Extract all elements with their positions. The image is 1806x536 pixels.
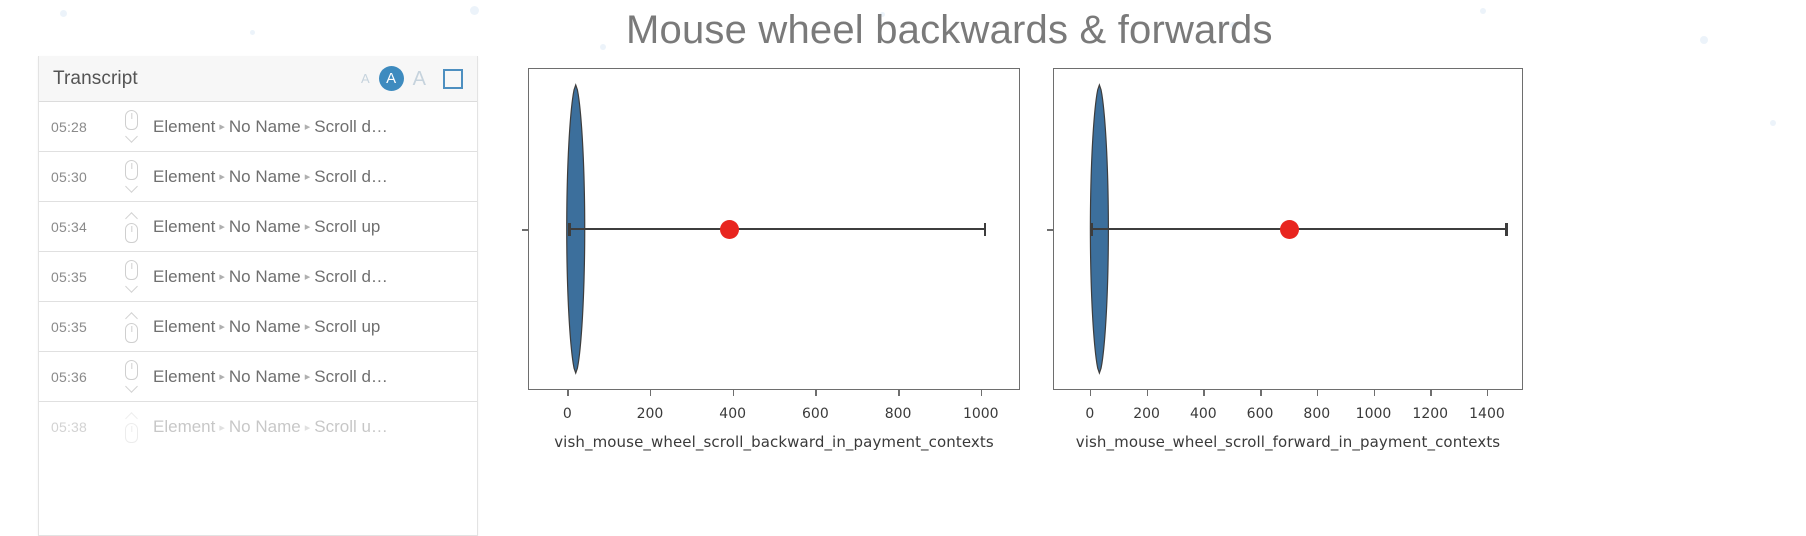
transcript-header: Transcript A A A xyxy=(39,56,477,102)
whisker-line xyxy=(568,228,984,231)
transcript-row-segment: Scroll u… xyxy=(314,417,388,437)
transcript-row-time: 05:36 xyxy=(51,369,109,385)
x-axis-tick xyxy=(567,390,569,396)
transcript-row-segment: Element xyxy=(153,367,215,387)
x-axis-tick xyxy=(815,390,817,396)
breadcrumb-separator-icon: ▸ xyxy=(219,370,225,383)
transcript-row[interactable]: 05:35Element▸No Name▸Scroll up xyxy=(39,302,477,352)
font-size-large-button[interactable]: A xyxy=(413,69,426,89)
transcript-row-segment: Scroll d… xyxy=(314,167,388,187)
breadcrumb-separator-icon: ▸ xyxy=(219,220,225,233)
transcript-row-segment: Scroll up xyxy=(314,317,380,337)
x-axis-label-forward: vish_mouse_wheel_scroll_forward_in_payme… xyxy=(1053,433,1523,451)
transcript-row-time: 05:30 xyxy=(51,169,109,185)
transcript-row-text: Element▸No Name▸Scroll up xyxy=(153,317,380,337)
breadcrumb-separator-icon: ▸ xyxy=(305,421,311,434)
transcript-row-segment: Scroll up xyxy=(314,217,380,237)
x-axis-tick-label: 800 xyxy=(1303,406,1330,422)
transcript-row-segment: No Name xyxy=(229,167,301,187)
x-axis-tick xyxy=(1430,390,1432,396)
x-axis-tick xyxy=(1317,390,1319,396)
transcript-row-text: Element▸No Name▸Scroll u… xyxy=(153,417,388,437)
transcript-row-segment: Element xyxy=(153,217,215,237)
x-axis-tick xyxy=(898,390,900,396)
plot-area-forward xyxy=(1053,68,1523,390)
x-axis-tick-label: 400 xyxy=(719,406,746,422)
x-axis-tick xyxy=(1260,390,1262,396)
x-axis-tick-label: 600 xyxy=(1247,406,1274,422)
transcript-row-text: Element▸No Name▸Scroll up xyxy=(153,217,380,237)
x-axis-ticks-forward xyxy=(1053,390,1523,406)
transcript-row-segment: Scroll d… xyxy=(314,117,388,137)
transcript-row-time: 05:38 xyxy=(51,419,109,435)
transcript-row-text: Element▸No Name▸Scroll d… xyxy=(153,367,388,387)
transcript-row-segment: No Name xyxy=(229,417,301,437)
transcript-panel: Transcript A A A 05:28Element▸No Name▸Sc… xyxy=(38,56,478,536)
transcript-row[interactable]: 05:30Element▸No Name▸Scroll d… xyxy=(39,152,477,202)
x-axis-ticklabels-forward: 0200400600800100012001400 xyxy=(1053,406,1523,428)
x-axis-tick xyxy=(1147,390,1149,396)
x-axis-tick xyxy=(1487,390,1489,396)
transcript-row-icon xyxy=(109,210,153,244)
mouse-scroll-down-icon xyxy=(122,110,140,144)
transcript-row-text: Element▸No Name▸Scroll d… xyxy=(153,117,388,137)
transcript-row-segment: Element xyxy=(153,417,215,437)
transcript-row-time: 05:35 xyxy=(51,319,109,335)
transcript-row-segment: No Name xyxy=(229,367,301,387)
transcript-row-icon xyxy=(109,260,153,294)
chart-forward: 0200400600800100012001400 vish_mouse_whe… xyxy=(1053,68,1523,451)
x-axis-tick xyxy=(1203,390,1205,396)
x-axis-tick xyxy=(1090,390,1092,396)
breadcrumb-separator-icon: ▸ xyxy=(305,120,311,133)
y-axis-tick xyxy=(1047,229,1054,231)
whisker-cap-max xyxy=(984,223,987,236)
breadcrumb-separator-icon: ▸ xyxy=(305,220,311,233)
breadcrumb-separator-icon: ▸ xyxy=(219,320,225,333)
transcript-row[interactable]: 05:36Element▸No Name▸Scroll d… xyxy=(39,352,477,402)
x-axis-tick-label: 1200 xyxy=(1412,406,1448,422)
x-axis-tick xyxy=(733,390,735,396)
transcript-row-icon xyxy=(109,410,153,444)
breadcrumb-separator-icon: ▸ xyxy=(305,370,311,383)
transcript-row[interactable]: 05:38Element▸No Name▸Scroll u… xyxy=(39,402,477,452)
transcript-row-icon xyxy=(109,310,153,344)
x-axis-tick-label: 0 xyxy=(563,406,572,422)
transcript-row[interactable]: 05:35Element▸No Name▸Scroll d… xyxy=(39,252,477,302)
mouse-scroll-up-icon xyxy=(122,210,140,244)
x-axis-tick-label: 200 xyxy=(637,406,664,422)
transcript-row-segment: Scroll d… xyxy=(314,267,388,287)
x-axis-tick-label: 0 xyxy=(1085,406,1094,422)
x-axis-tick xyxy=(981,390,983,396)
y-axis-tick xyxy=(522,229,529,231)
font-size-medium-button[interactable]: A xyxy=(379,66,404,91)
transcript-row[interactable]: 05:34Element▸No Name▸Scroll up xyxy=(39,202,477,252)
transcript-row-time: 05:28 xyxy=(51,119,109,135)
transcript-row-segment: No Name xyxy=(229,117,301,137)
transcript-header-tools: A A A xyxy=(361,66,463,91)
breadcrumb-separator-icon: ▸ xyxy=(305,170,311,183)
x-axis-tick-label: 200 xyxy=(1133,406,1160,422)
breadcrumb-separator-icon: ▸ xyxy=(219,170,225,183)
x-axis-tick-label: 400 xyxy=(1190,406,1217,422)
breadcrumb-separator-icon: ▸ xyxy=(305,320,311,333)
transcript-row-text: Element▸No Name▸Scroll d… xyxy=(153,267,388,287)
mouse-scroll-up-icon xyxy=(122,310,140,344)
mouse-scroll-up-icon xyxy=(122,410,140,444)
fullscreen-expand-icon[interactable] xyxy=(443,69,463,89)
x-axis-tick-label: 1000 xyxy=(1356,406,1392,422)
x-axis-ticks-backward xyxy=(528,390,1020,406)
mouse-scroll-down-icon xyxy=(122,160,140,194)
x-axis-tick-label: 600 xyxy=(802,406,829,422)
mouse-scroll-down-icon xyxy=(122,360,140,394)
x-axis-label-backward: vish_mouse_wheel_scroll_backward_in_paym… xyxy=(528,433,1020,451)
transcript-row-segment: Element xyxy=(153,167,215,187)
breadcrumb-separator-icon: ▸ xyxy=(219,270,225,283)
transcript-row-segment: Element xyxy=(153,317,215,337)
whisker-cap-min xyxy=(568,223,571,236)
mean-marker-dot xyxy=(720,220,739,239)
transcript-row-segment: Element xyxy=(153,117,215,137)
transcript-row-segment: Scroll d… xyxy=(314,367,388,387)
transcript-rows: 05:28Element▸No Name▸Scroll d…05:30Eleme… xyxy=(39,102,477,452)
x-axis-tick-label: 800 xyxy=(885,406,912,422)
transcript-title: Transcript xyxy=(53,68,361,90)
chart-backward: 02004006008001000 vish_mouse_wheel_scrol… xyxy=(528,68,1020,451)
transcript-row-segment: No Name xyxy=(229,267,301,287)
transcript-row-text: Element▸No Name▸Scroll d… xyxy=(153,167,388,187)
x-axis-ticklabels-backward: 02004006008001000 xyxy=(528,406,1020,428)
breadcrumb-separator-icon: ▸ xyxy=(219,120,225,133)
transcript-row-icon xyxy=(109,360,153,394)
mouse-scroll-down-icon xyxy=(122,260,140,294)
whisker-cap-max xyxy=(1505,223,1508,236)
transcript-row-segment: No Name xyxy=(229,317,301,337)
x-axis-tick xyxy=(1374,390,1376,396)
mean-marker-dot xyxy=(1280,220,1299,239)
plot-area-backward xyxy=(528,68,1020,390)
breadcrumb-separator-icon: ▸ xyxy=(305,270,311,283)
x-axis-tick xyxy=(650,390,652,396)
transcript-row-icon xyxy=(109,160,153,194)
x-axis-tick-label: 1400 xyxy=(1469,406,1505,422)
transcript-row-time: 05:35 xyxy=(51,269,109,285)
breadcrumb-separator-icon: ▸ xyxy=(219,421,225,434)
transcript-row-segment: Element xyxy=(153,267,215,287)
transcript-row-time: 05:34 xyxy=(51,219,109,235)
transcript-row-icon xyxy=(109,110,153,144)
font-size-small-button[interactable]: A xyxy=(361,72,370,85)
x-axis-tick-label: 1000 xyxy=(963,406,999,422)
whisker-cap-min xyxy=(1091,223,1094,236)
transcript-row[interactable]: 05:28Element▸No Name▸Scroll d… xyxy=(39,102,477,152)
transcript-row-segment: No Name xyxy=(229,217,301,237)
page-title: Mouse wheel backwards & forwards xyxy=(626,8,1273,53)
